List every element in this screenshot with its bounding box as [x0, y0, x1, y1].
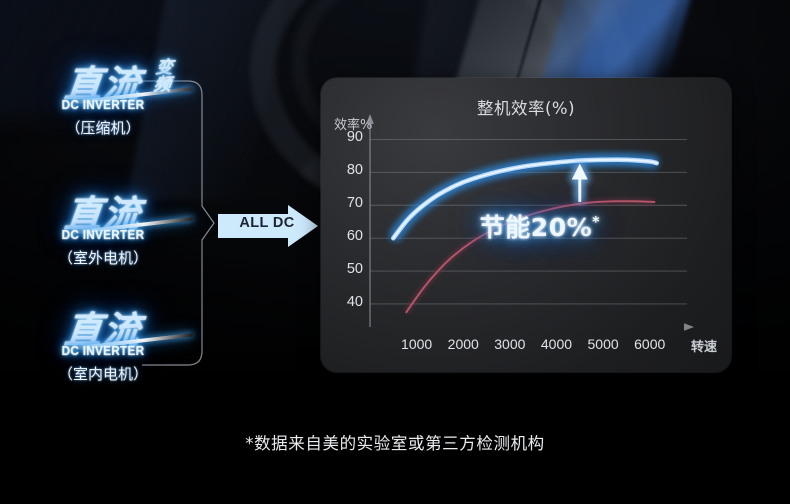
- logo-sub-label: （压缩机）: [8, 117, 198, 138]
- energy-saving-annotation: 节能20%*: [480, 208, 600, 244]
- logo-sub-label: （室内电机）: [8, 363, 198, 384]
- efficiency-chart-panel: 整机效率(%) 效率% 转速 90 80 70 60 50 40 1000 20…: [321, 78, 731, 372]
- footnote-text: *数据来自美的实验室或第三方检测机构: [0, 430, 790, 454]
- logo-en-text: DC INVERTER: [14, 344, 193, 358]
- all-dc-label: ALL DC: [234, 215, 300, 231]
- logo-superscript: 变 频: [153, 60, 174, 95]
- logo-en-text: DC INVERTER: [14, 228, 193, 242]
- logo-block-compressor: 直流 变 频 DC INVERTER （压缩机）: [8, 66, 198, 138]
- logo-en-text: DC INVERTER: [14, 98, 193, 112]
- improvement-arrow-icon: [570, 161, 590, 201]
- all-dc-arrow-badge: ALL DC: [216, 203, 320, 254]
- promo-graphic: 直流 变 频 DC INVERTER （压缩机） 直流 DC INVERTER …: [0, 0, 790, 504]
- logo-sub-label: （室外电机）: [8, 247, 198, 268]
- logo-block-indoor-motor: 直流 DC INVERTER （室内电机）: [8, 312, 198, 384]
- logo-block-outdoor-motor: 直流 DC INVERTER （室外电机）: [8, 196, 198, 268]
